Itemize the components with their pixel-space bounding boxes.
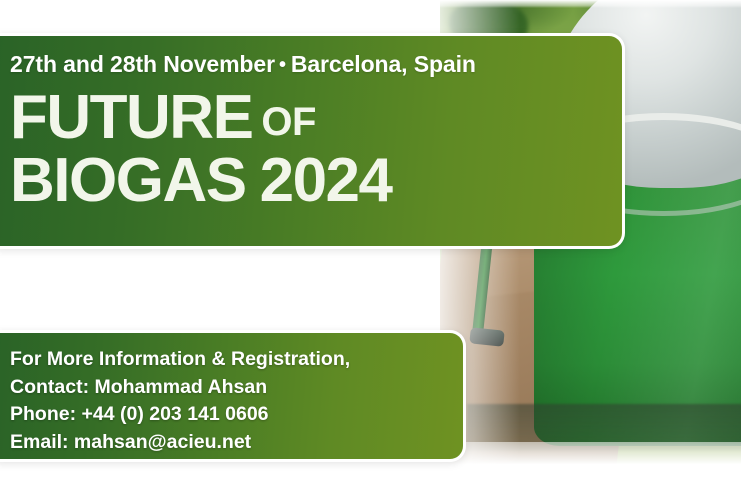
title-panel: 27th and 28th November•Barcelona, Spain … — [0, 33, 625, 249]
contact-line-registration: For More Information & Registration, — [10, 346, 463, 374]
photo-top-fade — [0, 0, 741, 8]
bullet-separator-icon: • — [275, 54, 291, 76]
headline-line-one: FUTUREOF — [10, 89, 622, 146]
headline-word-biogas: BIOGAS — [10, 146, 246, 215]
contact-line-email: Email: mahsan@acieu.net — [10, 429, 463, 457]
headline-word-future: FUTURE — [10, 83, 252, 152]
contact-line-name: Contact: Mohammad Ahsan — [10, 374, 463, 402]
event-date-location: 27th and 28th November•Barcelona, Spain — [10, 52, 622, 77]
event-location: Barcelona, Spain — [291, 51, 476, 77]
headline-year: 2024 — [246, 146, 392, 215]
headline-line-two: BIOGAS2024 — [10, 152, 622, 210]
contact-panel: For More Information & Registration, Con… — [0, 330, 466, 462]
contact-line-phone: Phone: +44 (0) 203 141 0606 — [10, 401, 463, 429]
headline-word-of: OF — [252, 100, 316, 144]
event-promo-poster: 27th and 28th November•Barcelona, Spain … — [0, 0, 741, 486]
event-dates: 27th and 28th November — [10, 51, 275, 77]
photo-bottom-mask — [0, 464, 741, 486]
